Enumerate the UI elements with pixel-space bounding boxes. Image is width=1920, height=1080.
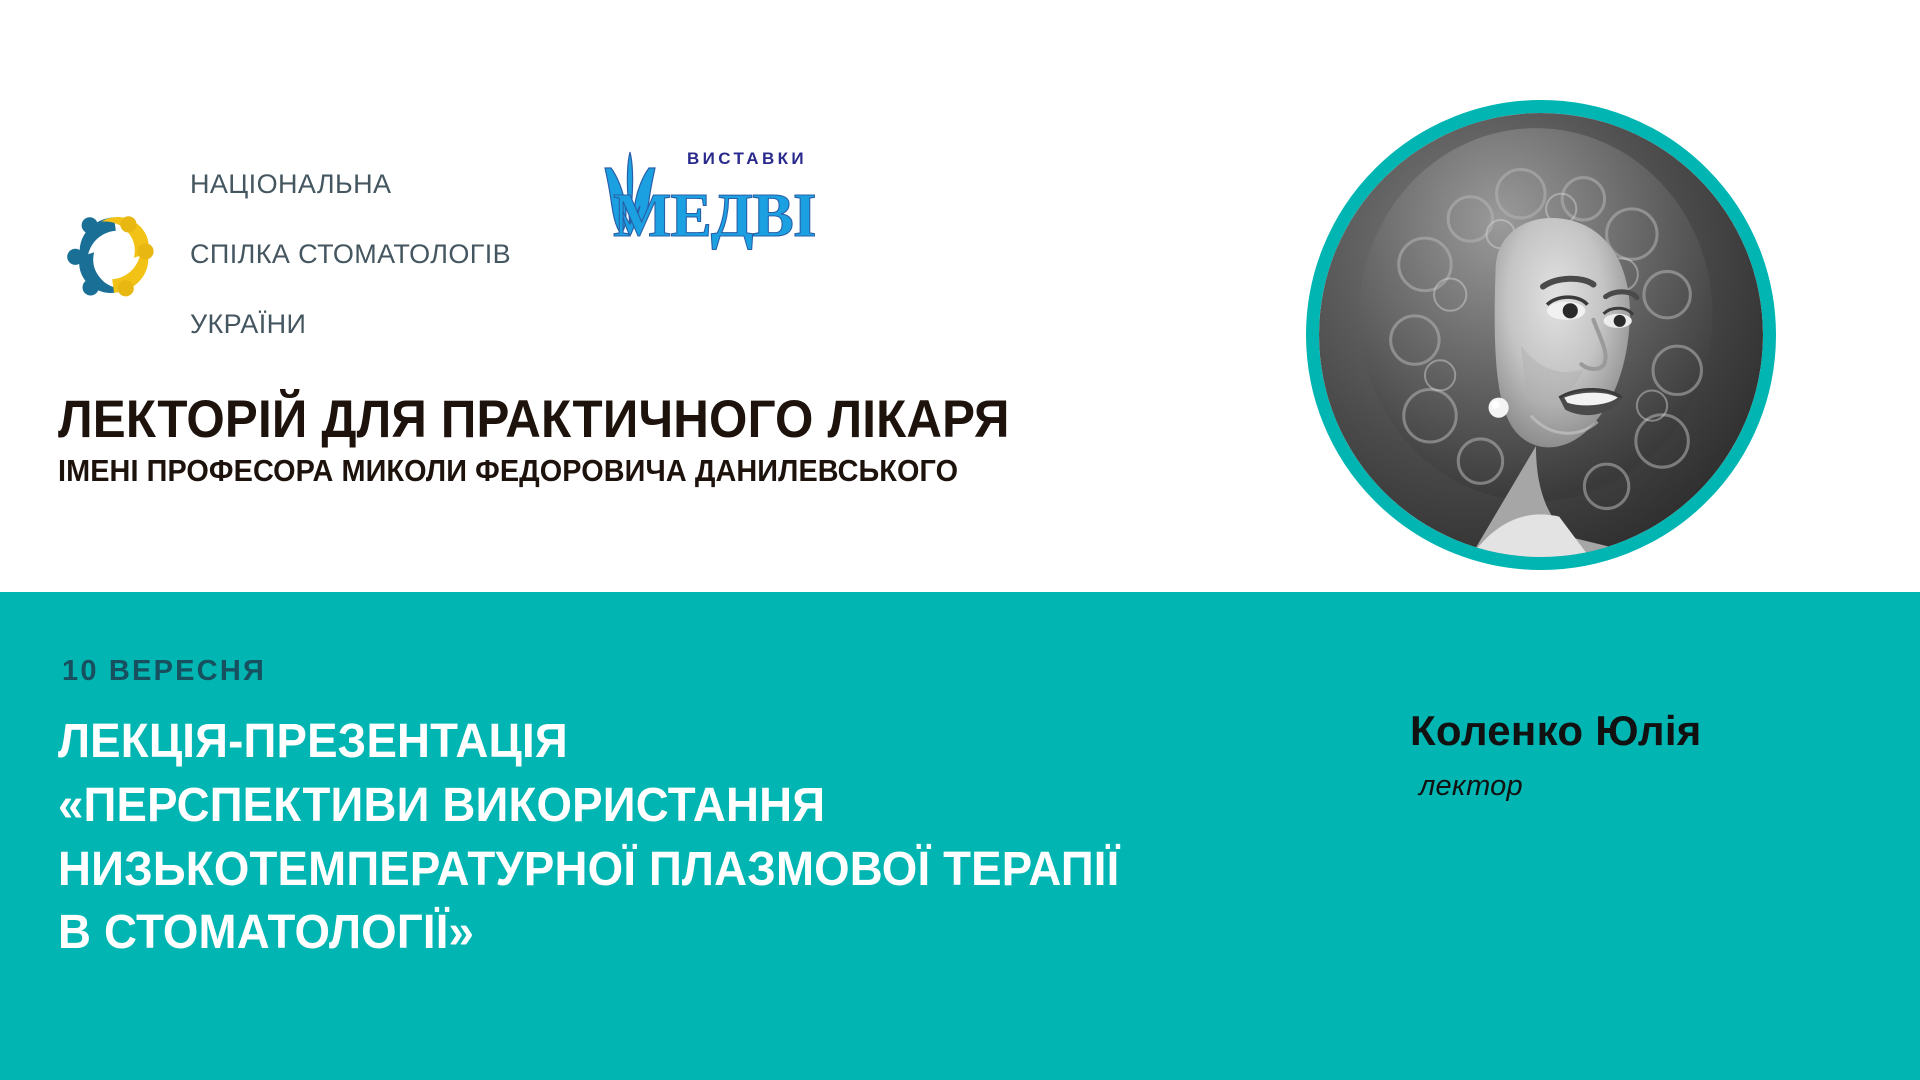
medvin-top-word: ВИСТАВКИ [687,149,807,168]
medvin-logo: ВИСТАВКИ МЕДВІН [595,140,815,250]
people-circle-logo-icon [60,201,168,309]
page-title: ЛЕКТОРІЙ ДЛЯ ПРАКТИЧНОГО ЛІКАРЯ [58,392,1025,447]
lecture-title: ЛЕКЦІЯ-ПРЕЗЕНТАЦІЯ «ПЕРСПЕКТИВИ ВИКОРИСТ… [58,710,1141,965]
lecture-title-line: В СТОМАТОЛОГІЇ» [58,901,1141,965]
speaker-portrait [1306,100,1776,570]
nssu-logo-text: НАЦІОНАЛЬНА СПІЛКА СТОМАТОЛОГІВ УКРАЇНИ [190,132,511,378]
nssu-line-3: УКРАЇНИ [190,307,511,342]
medvin-wordmark: МЕДВІН [613,182,815,250]
event-date: 10 ВЕРЕСНЯ [62,655,266,688]
page-subtitle: ІМЕНІ ПРОФЕСОРА МИКОЛИ ФЕДОРОВИЧА ДАНИЛЕ… [58,454,1025,489]
speaker-role: лектор [1419,770,1523,803]
nssu-line-1: НАЦІОНАЛЬНА [190,167,511,202]
speaker-portrait-photo [1319,113,1763,557]
lecture-title-line: НИЗЬКОТЕМПЕРАТУРНОЇ ПЛАЗМОВОЇ ТЕРАПІЇ [58,838,1141,902]
nssu-logo: НАЦІОНАЛЬНА СПІЛКА СТОМАТОЛОГІВ УКРАЇНИ [60,132,511,378]
nssu-line-2: СПІЛКА СТОМАТОЛОГІВ [190,237,511,272]
event-announcement-poster: НАЦІОНАЛЬНА СПІЛКА СТОМАТОЛОГІВ УКРАЇНИ … [0,0,1920,1080]
headline-block: ЛЕКТОРІЙ ДЛЯ ПРАКТИЧНОГО ЛІКАРЯ ІМЕНІ ПР… [58,392,1098,489]
lecture-title-line: ЛЕКЦІЯ-ПРЕЗЕНТАЦІЯ [58,710,1141,774]
speaker-name: Коленко Юлія [1410,707,1702,755]
lecture-title-line: «ПЕРСПЕКТИВИ ВИКОРИСТАННЯ [58,774,1141,838]
